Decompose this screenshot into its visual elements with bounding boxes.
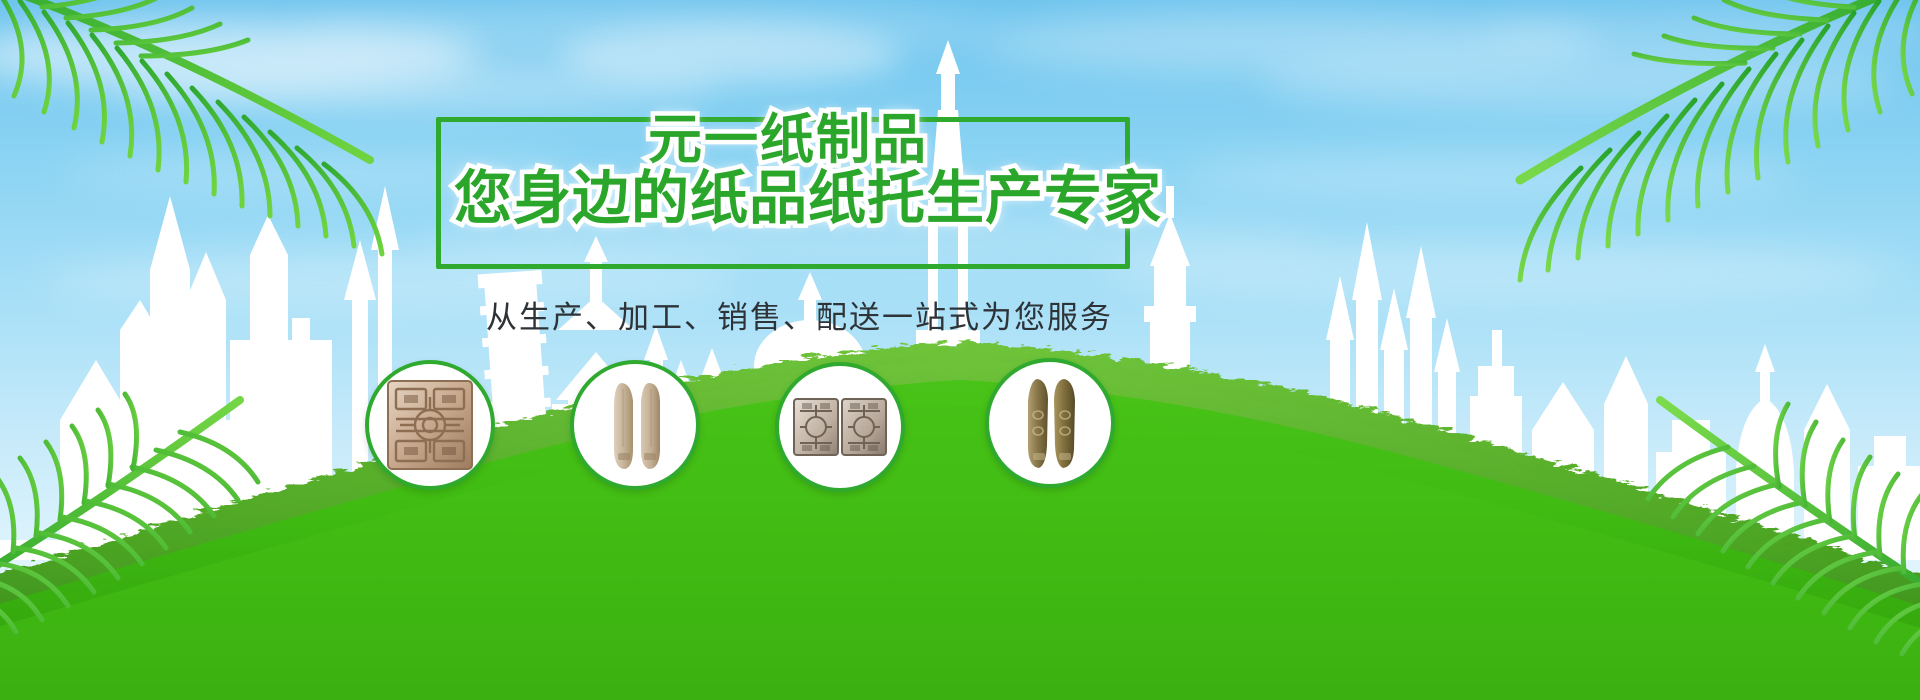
product-circle-1[interactable] xyxy=(365,360,495,490)
product-thumbnail-row xyxy=(0,0,1920,700)
promo-banner: 元一纸制品 您身边的纸品纸托生产专家 从生产、加工、销售、配送一站式为您服务 xyxy=(0,0,1920,700)
product-image-paper-pulp-shoe-tree-pair xyxy=(583,373,687,477)
product-image-paper-pulp-corner-protectors xyxy=(788,375,892,479)
product-circle-3[interactable] xyxy=(775,362,905,492)
product-image-paper-pulp-tray-square xyxy=(378,373,482,477)
product-image-paper-pulp-shoe-insert-pair xyxy=(998,371,1102,475)
product-circle-2[interactable] xyxy=(570,360,700,490)
product-circle-4[interactable] xyxy=(985,358,1115,488)
